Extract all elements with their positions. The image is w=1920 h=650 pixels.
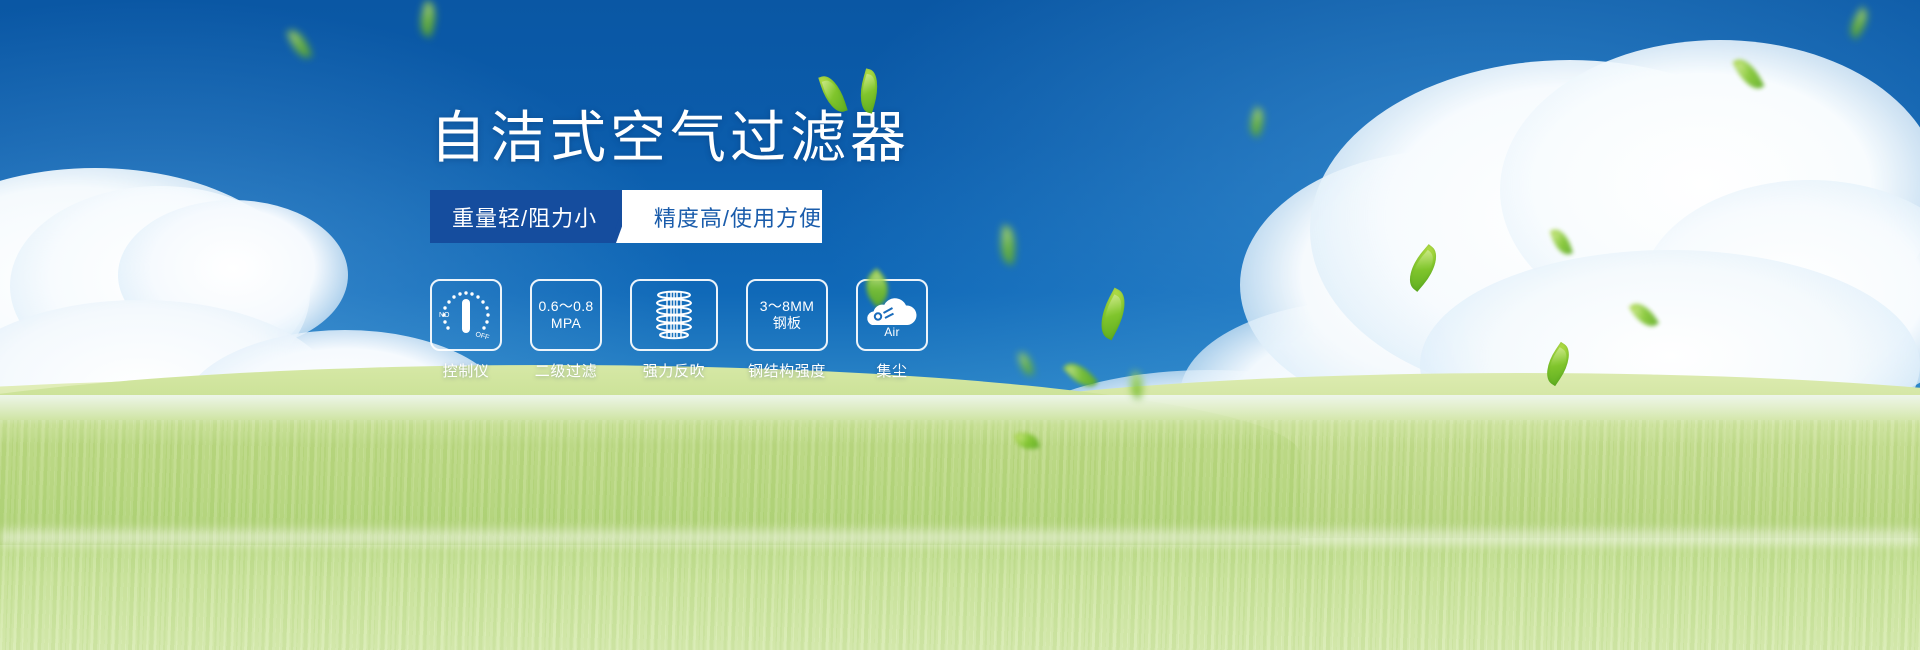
pressure-value-line1: 0.6～0.8	[538, 298, 593, 315]
pressure-value-line2: MPA	[551, 315, 581, 332]
feature-item-dust-collection[interactable]: Air 集尘	[856, 279, 928, 381]
feature-icon-box: NO OFF	[430, 279, 502, 351]
feature-list: NO OFF 控制仪 0.6～0.8 MPA 二级过滤	[430, 279, 1050, 381]
leaf-icon	[855, 68, 884, 113]
subtitle-tab-label: 精度高/使用方便	[654, 201, 822, 233]
feature-icon-box	[630, 279, 718, 351]
grass-field	[0, 420, 1920, 650]
feature-icon-box: 0.6～0.8 MPA	[530, 279, 602, 351]
banner-content: 自洁式空气过滤器 重量轻/阻力小 精度高/使用方便	[430, 110, 1050, 381]
subtitle-tab-bar: 重量轻/阻力小 精度高/使用方便	[430, 190, 822, 243]
feature-label: 集尘	[876, 360, 907, 381]
gauge-icon: NO OFF	[435, 286, 497, 344]
feature-icon-box: Air	[856, 279, 928, 351]
feature-item-backblow[interactable]: 强力反吹	[630, 279, 718, 381]
feature-label: 二级过滤	[535, 360, 597, 381]
subtitle-tab-label: 重量轻/阻力小	[452, 201, 597, 233]
cloud-air-label: Air	[884, 325, 900, 340]
gauge-label-off: OFF	[474, 331, 489, 342]
title-leaf-pair	[822, 68, 892, 122]
hill-highlight	[0, 524, 1920, 550]
feature-label: 钢结构强度	[748, 360, 826, 381]
steel-value-line1: 3～8MM	[760, 298, 814, 315]
gauge-label-no: NO	[439, 312, 450, 319]
feature-item-steel-strength[interactable]: 3～8MM 钢板 钢结构强度	[746, 279, 828, 381]
feature-item-controller[interactable]: NO OFF 控制仪	[430, 279, 502, 381]
ground-haze	[0, 395, 1920, 445]
feature-item-secondary-filter[interactable]: 0.6～0.8 MPA 二级过滤	[530, 279, 602, 381]
feature-icon-box: 3～8MM 钢板	[746, 279, 828, 351]
leaf-icon	[818, 72, 847, 116]
steel-value-line2: 钢板	[773, 315, 802, 332]
subtitle-tab-weight-resistance[interactable]: 重量轻/阻力小	[430, 190, 622, 243]
feature-label: 控制仪	[443, 360, 490, 381]
page-title: 自洁式空气过滤器	[430, 110, 1050, 166]
subtitle-tab-precision-ease[interactable]: 精度高/使用方便	[622, 190, 822, 243]
filter-cartridge-icon	[645, 286, 703, 344]
product-banner: 自洁式空气过滤器 重量轻/阻力小 精度高/使用方便	[0, 0, 1920, 650]
feature-label: 强力反吹	[643, 360, 705, 381]
